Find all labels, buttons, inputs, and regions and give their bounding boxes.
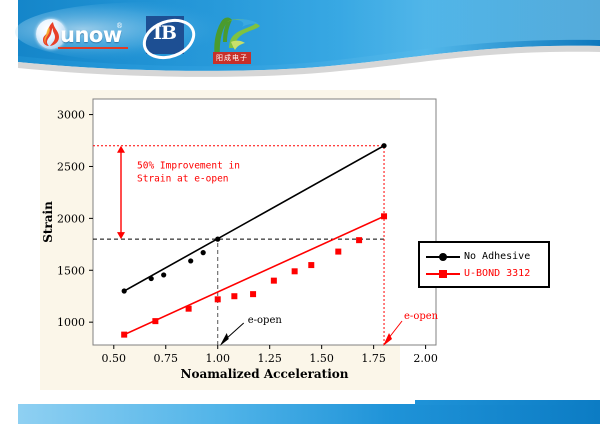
ib-logo: IB (142, 14, 190, 60)
footer-bar (18, 404, 600, 424)
legend-item-u-bond-3312: U-BOND 3312 (426, 265, 542, 282)
legend-key-no-adhesive (426, 252, 460, 262)
flame-icon (40, 21, 62, 47)
unow-logo-underline (58, 47, 128, 49)
chart-panel-background (40, 90, 400, 390)
legend-label-no-adhesive: No Adhesive (464, 251, 530, 262)
green-leaf-logo-text: 阳成电子 (213, 52, 251, 64)
registered-mark: ® (116, 22, 123, 30)
green-leaf-logo: 阳成电子 (205, 12, 261, 64)
legend-key-u-bond-3312 (426, 269, 460, 279)
legend-label-u-bond-3312: U-BOND 3312 (464, 268, 530, 279)
unow-logo-wordmark: unow (60, 23, 122, 47)
eopen-red-label: e-open (404, 311, 439, 322)
header-banner: unow ® IB 阳成电子 (0, 0, 600, 78)
chart-legend: No Adhesive U-BOND 3312 (418, 241, 550, 288)
unow-logo: unow ® (36, 16, 132, 58)
x-axis-tick-label: 2.00 (413, 352, 438, 365)
ib-logo-wordmark: IB (153, 22, 176, 44)
legend-item-no-adhesive: No Adhesive (426, 248, 542, 265)
